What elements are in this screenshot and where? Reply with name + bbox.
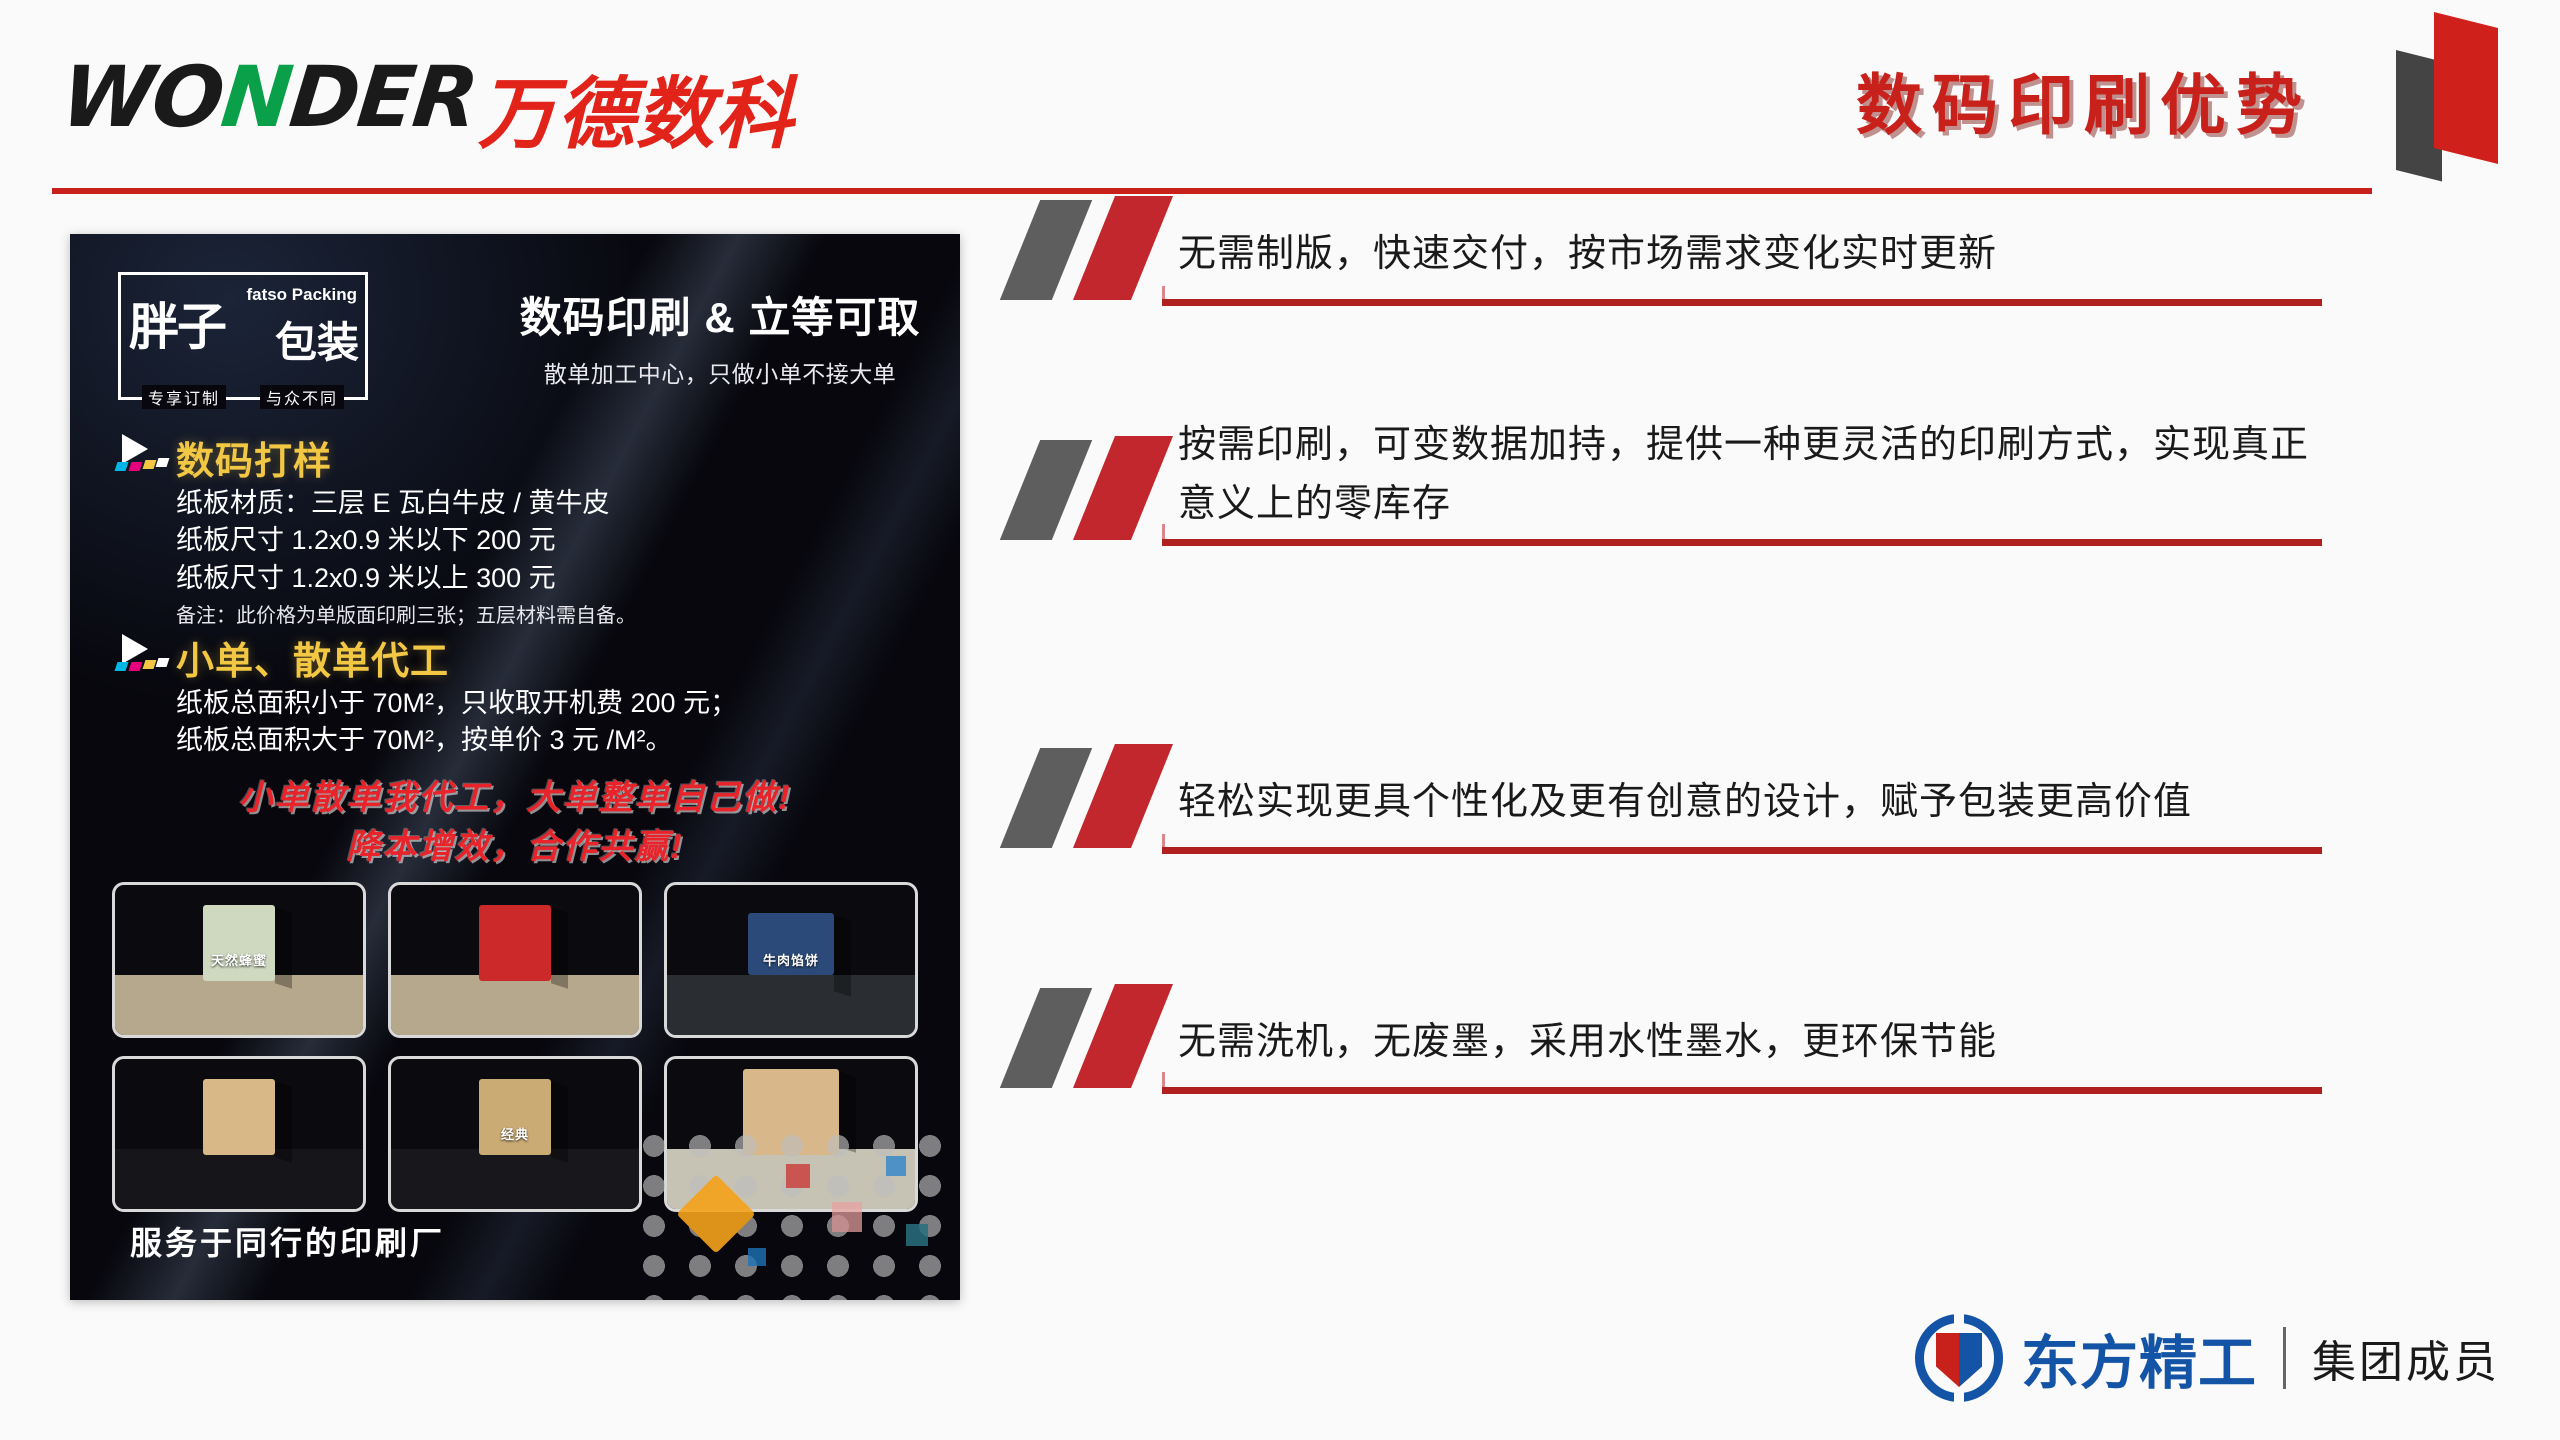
wonder-logo-part-1: WO xyxy=(57,48,227,146)
slogan-line-1: 小单散单我代工，大单整单自己做! xyxy=(70,774,960,823)
company-name: 东方精工 xyxy=(2021,1316,2257,1400)
wonder-logo-chinese: 万德数科 xyxy=(478,52,794,164)
chevron-arrow-icon xyxy=(114,432,174,480)
poster-subheadline: 散单加工中心，只做小单不接大单 xyxy=(510,355,930,389)
poster-headline-block: 数码印刷 & 立等可取 散单加工中心，只做小单不接大单 xyxy=(510,284,930,389)
section-line: 纸板总面积小于 70M²，只收取开机费 200 元； xyxy=(176,685,914,722)
poster-section-oem: 小单、散单代工 纸板总面积小于 70M²，只收取开机费 200 元； 纸板总面积… xyxy=(114,630,914,760)
bullet-underline xyxy=(1162,299,2322,306)
group-member-label: 集团成员 xyxy=(2312,1326,2500,1390)
fatso-logo: 胖子 fatso Packing 包装 专享订制 与众不同 xyxy=(118,272,368,400)
poster-headline: 数码印刷 & 立等可取 xyxy=(510,284,930,345)
bullet-underline xyxy=(1162,1087,2322,1094)
corner-red-shape xyxy=(2434,12,2498,164)
dot-pattern-decoration xyxy=(636,1128,960,1300)
bullet-text: 无需洗机，无废墨，采用水性墨水，更环保节能 xyxy=(1178,1013,2328,1072)
section-title: 数码打样 xyxy=(176,430,914,485)
fatso-tagline-right: 与众不同 xyxy=(260,385,344,409)
fatso-logo-cn1: 胖子 xyxy=(129,287,225,359)
section-line: 纸板尺寸 1.2x0.9 米以下 200 元 xyxy=(176,522,914,559)
bullet-text: 无需制版，快速交付，按市场需求变化实时更新 xyxy=(1178,225,2328,284)
header-divider xyxy=(52,188,2372,194)
chevron-arrow-icon xyxy=(114,632,174,680)
product-photo: 天然蜂蜜 xyxy=(112,882,366,1038)
poster-image: 胖子 fatso Packing 包装 专享订制 与众不同 数码印刷 & 立等可… xyxy=(70,234,960,1300)
fatso-logo-en: fatso Packing xyxy=(246,285,357,305)
bullet-underline xyxy=(1162,539,2322,546)
bullet-text: 轻松实现更具个性化及更有创意的设计，赋予包装更高价值 xyxy=(1178,773,2328,832)
fatso-tagline-left: 专享订制 xyxy=(142,385,226,409)
page-header: WONDER 万德数科 数码印刷优势 xyxy=(0,0,2560,200)
corner-decoration-icon xyxy=(2392,6,2502,176)
logo-separator xyxy=(2283,1327,2286,1389)
section-line: 纸板材质：三层 E 瓦白牛皮 / 黄牛皮 xyxy=(176,485,914,522)
wonder-logo-part-2: DER xyxy=(285,48,481,146)
orange-diamond-icon xyxy=(676,1174,755,1253)
product-photo-label: 牛肉馅饼 xyxy=(763,950,819,969)
wonder-logo-letter-n: N xyxy=(217,48,296,146)
shield-circle-icon xyxy=(1915,1314,2003,1402)
product-photo: 牛肉馅饼 xyxy=(664,882,918,1038)
fatso-logo-cn2: 包装 xyxy=(275,309,359,370)
slogan-line-2: 降本增效，合作共赢! xyxy=(70,823,960,872)
product-photo xyxy=(388,882,642,1038)
product-photo-label: 经典 xyxy=(501,1124,529,1143)
product-photo xyxy=(112,1056,366,1212)
poster-slogan: 小单散单我代工，大单整单自己做! 降本增效，合作共赢! xyxy=(70,774,960,873)
wonder-logo: WONDER xyxy=(57,48,481,146)
section-line: 纸板总面积大于 70M²，按单价 3 元 /M²。 xyxy=(176,722,914,759)
poster-section-proofing: 数码打样 纸板材质：三层 E 瓦白牛皮 / 黄牛皮 纸板尺寸 1.2x0.9 米… xyxy=(114,430,914,628)
bullet-underline xyxy=(1162,847,2322,854)
product-photo: 经典 xyxy=(388,1056,642,1212)
section-note: 备注：此价格为单版面印刷三张；五层材料需自备。 xyxy=(176,599,914,628)
poster-footer-text: 服务于同行的印刷厂 xyxy=(130,1218,445,1264)
section-title: 小单、散单代工 xyxy=(176,630,914,685)
fatso-logo-taglines: 专享订制 与众不同 xyxy=(121,385,365,409)
bullet-text: 按需印刷，可变数据加持，提供一种更灵活的印刷方式，实现真正意义上的零库存 xyxy=(1178,416,2328,534)
product-photo-label: 天然蜂蜜 xyxy=(211,950,267,969)
section-line: 纸板尺寸 1.2x0.9 米以上 300 元 xyxy=(176,560,914,597)
dongfang-jingong-logo: 东方精工 集团成员 xyxy=(1915,1312,2500,1404)
page-title: 数码印刷优势 xyxy=(1856,52,2312,148)
